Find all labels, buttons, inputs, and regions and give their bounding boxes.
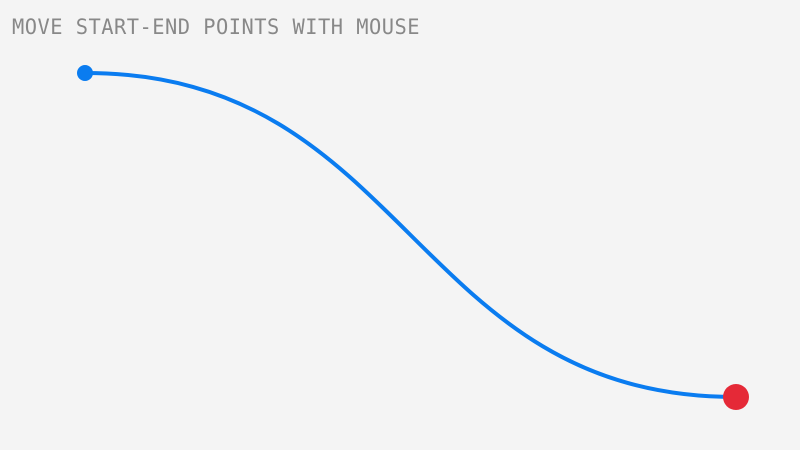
curve-canvas [0,0,800,450]
end-point-handle[interactable] [723,384,749,410]
bezier-curve-path [85,73,736,397]
start-point-handle[interactable] [77,65,93,81]
bezier-canvas-stage[interactable]: MOVE START-END POINTS WITH MOUSE [0,0,800,450]
page-title: MOVE START-END POINTS WITH MOUSE [12,14,420,40]
